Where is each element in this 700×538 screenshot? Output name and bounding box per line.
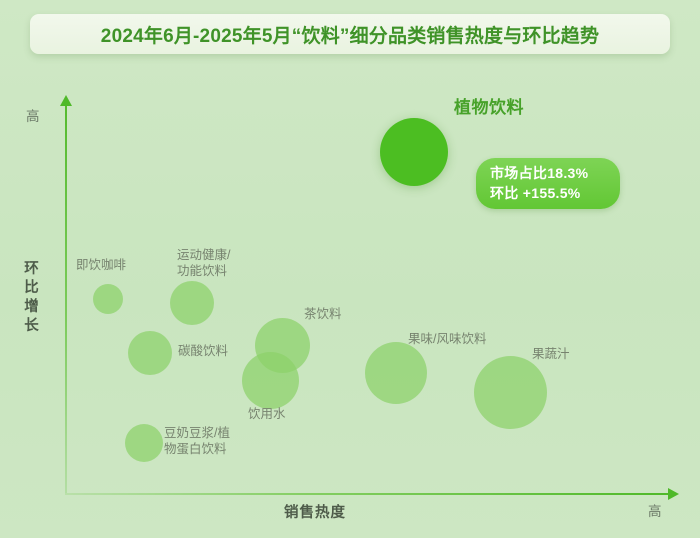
y-axis-line	[65, 103, 67, 495]
y-axis-high-label: 高	[26, 105, 40, 125]
chart-title-card: 2024年6月-2025年5月“饮料”细分品类销售热度与环比趋势	[30, 14, 670, 54]
bubble-label: 果蔬汁	[532, 346, 570, 362]
x-axis-arrow-icon	[668, 488, 679, 500]
chart-canvas: 2024年6月-2025年5月“饮料”细分品类销售热度与环比趋势 高 高 环比增…	[0, 0, 700, 538]
bubble-item[interactable]	[170, 281, 214, 325]
bubble-item[interactable]	[93, 284, 123, 314]
bubble-highlight[interactable]	[380, 118, 448, 186]
y-axis-arrow-icon	[60, 95, 72, 106]
bubble-label: 饮用水	[248, 406, 286, 422]
bubble-item[interactable]	[128, 331, 172, 375]
badge-market-share: 市场占比18.3%	[476, 163, 620, 183]
bubble-item[interactable]	[365, 342, 427, 404]
bubble-label: 植物饮料	[454, 100, 524, 116]
badge-growth: 环比 +155.5%	[476, 183, 620, 203]
bubble-label: 茶饮料	[304, 306, 342, 322]
bubble-item[interactable]	[474, 356, 547, 429]
bubble-label: 豆奶豆浆/植 物蛋白饮料	[164, 425, 230, 457]
page-title: 2024年6月-2025年5月“饮料”细分品类销售热度与环比趋势	[101, 21, 599, 48]
bubble-label: 果味/风味饮料	[408, 331, 486, 347]
y-axis-title: 环比增长	[22, 260, 42, 336]
x-axis-line	[65, 493, 673, 495]
x-axis-high-label: 高	[648, 500, 662, 520]
bubble-item[interactable]	[125, 424, 163, 462]
bubble-item[interactable]	[242, 352, 299, 409]
bubble-label: 运动健康/ 功能饮料	[177, 247, 230, 279]
bubble-label: 碳酸饮料	[178, 343, 228, 359]
x-axis-title: 销售热度	[284, 501, 346, 522]
status-badge: 市场占比18.3% 环比 +155.5%	[476, 158, 620, 209]
bubble-label: 即饮咖啡	[76, 257, 126, 273]
